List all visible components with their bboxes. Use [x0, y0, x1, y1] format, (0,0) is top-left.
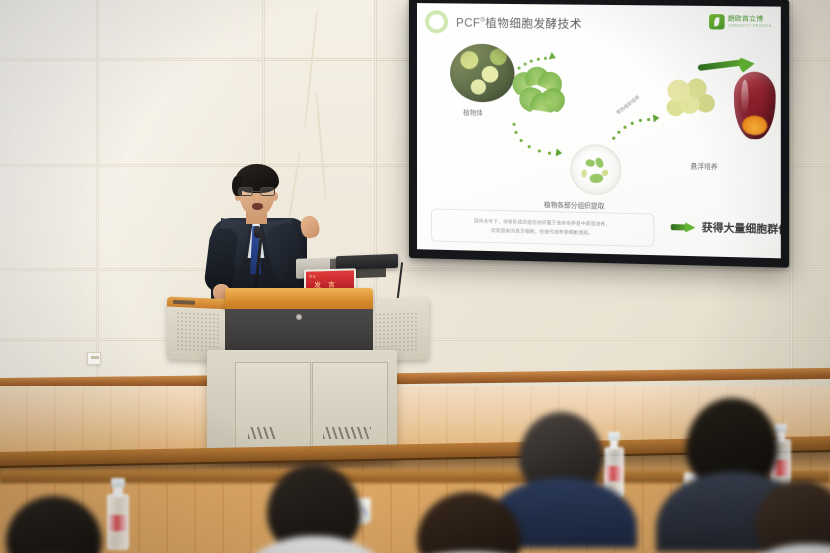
result-text: 获得大量细胞群体	[702, 220, 781, 237]
brand-name-en: LONGEVITY PROTEIN	[728, 24, 771, 28]
brand-logo: 朗欧首立博 LONGEVITY PROTEIN	[709, 14, 771, 30]
slide-title-rest: 植物细胞发酵技术	[485, 18, 582, 31]
label-plant: 植物体	[463, 107, 483, 117]
right-arrow-icon	[671, 222, 697, 232]
wall-seam	[0, 268, 830, 271]
callus-cluster	[664, 75, 718, 123]
audience-member	[745, 480, 830, 553]
speaker-grille	[374, 311, 418, 352]
presentation-screen[interactable]: PCF®植物细胞发酵技术 朗欧首立博 LONGEVITY PROTEIN 植物体	[409, 0, 789, 268]
culture-flask	[734, 71, 776, 139]
wall-outlet	[87, 352, 101, 365]
slide-note-box: 固体条件下，诱导形成的愈伤组织置于液体培养基中震荡培养， 得到游离的悬浮细胞，经…	[431, 208, 654, 247]
lectern-door-right[interactable]	[312, 362, 388, 454]
lectern-lock-icon	[296, 314, 302, 320]
speaker-mouth	[252, 203, 263, 210]
slide-ring-icon	[425, 10, 448, 33]
audience-member	[255, 464, 373, 553]
slide-title: PCF®植物细胞发酵技术	[456, 14, 582, 31]
lectern-door-left[interactable]	[235, 362, 311, 454]
lectern-cabinet	[207, 350, 397, 460]
lectern-front-panel	[225, 309, 373, 351]
wall-seam	[96, 0, 99, 430]
slide-content: PCF®植物细胞发酵技术 朗欧首立博 LONGEVITY PROTEIN 植物体	[417, 3, 781, 258]
audience-member	[0, 496, 120, 553]
label-suspension-culture: 悬浮培养	[690, 160, 717, 171]
wall-seam	[790, 0, 793, 430]
audience-member	[395, 492, 545, 553]
presentation-photo-scene: PCF®植物细胞发酵技术 朗欧首立博 LONGEVITY PROTEIN 植物体	[0, 0, 830, 553]
transfer-arrow-icon	[698, 55, 758, 74]
lectern-wing-trim	[167, 297, 231, 310]
petri-dish	[570, 144, 621, 196]
brand-name-cn: 朗欧首立博	[728, 16, 771, 23]
note-line-2: 得到游离的悬浮细胞，经继代培养使细胞增殖。	[491, 228, 593, 236]
plant-photo	[450, 44, 514, 103]
label-callus-culture: 愈伤组织培养	[615, 95, 641, 117]
label-tissue-extract: 植物各部分组织提取	[544, 199, 604, 210]
glasses-icon	[238, 187, 277, 196]
speaker-grille	[176, 311, 220, 353]
leaf-icon	[709, 14, 725, 29]
slide-result-callout: 获得大量细胞群体	[671, 219, 781, 237]
lectern-desktop	[225, 288, 373, 310]
nameplate-top-text: 会议	[309, 273, 316, 278]
ginkgo-leaves	[510, 66, 567, 119]
note-line-1: 固体条件下，诱导形成的愈伤组织置于液体培养基中震荡培养，	[474, 219, 610, 228]
slide-title-prefix: PCF	[456, 18, 480, 30]
